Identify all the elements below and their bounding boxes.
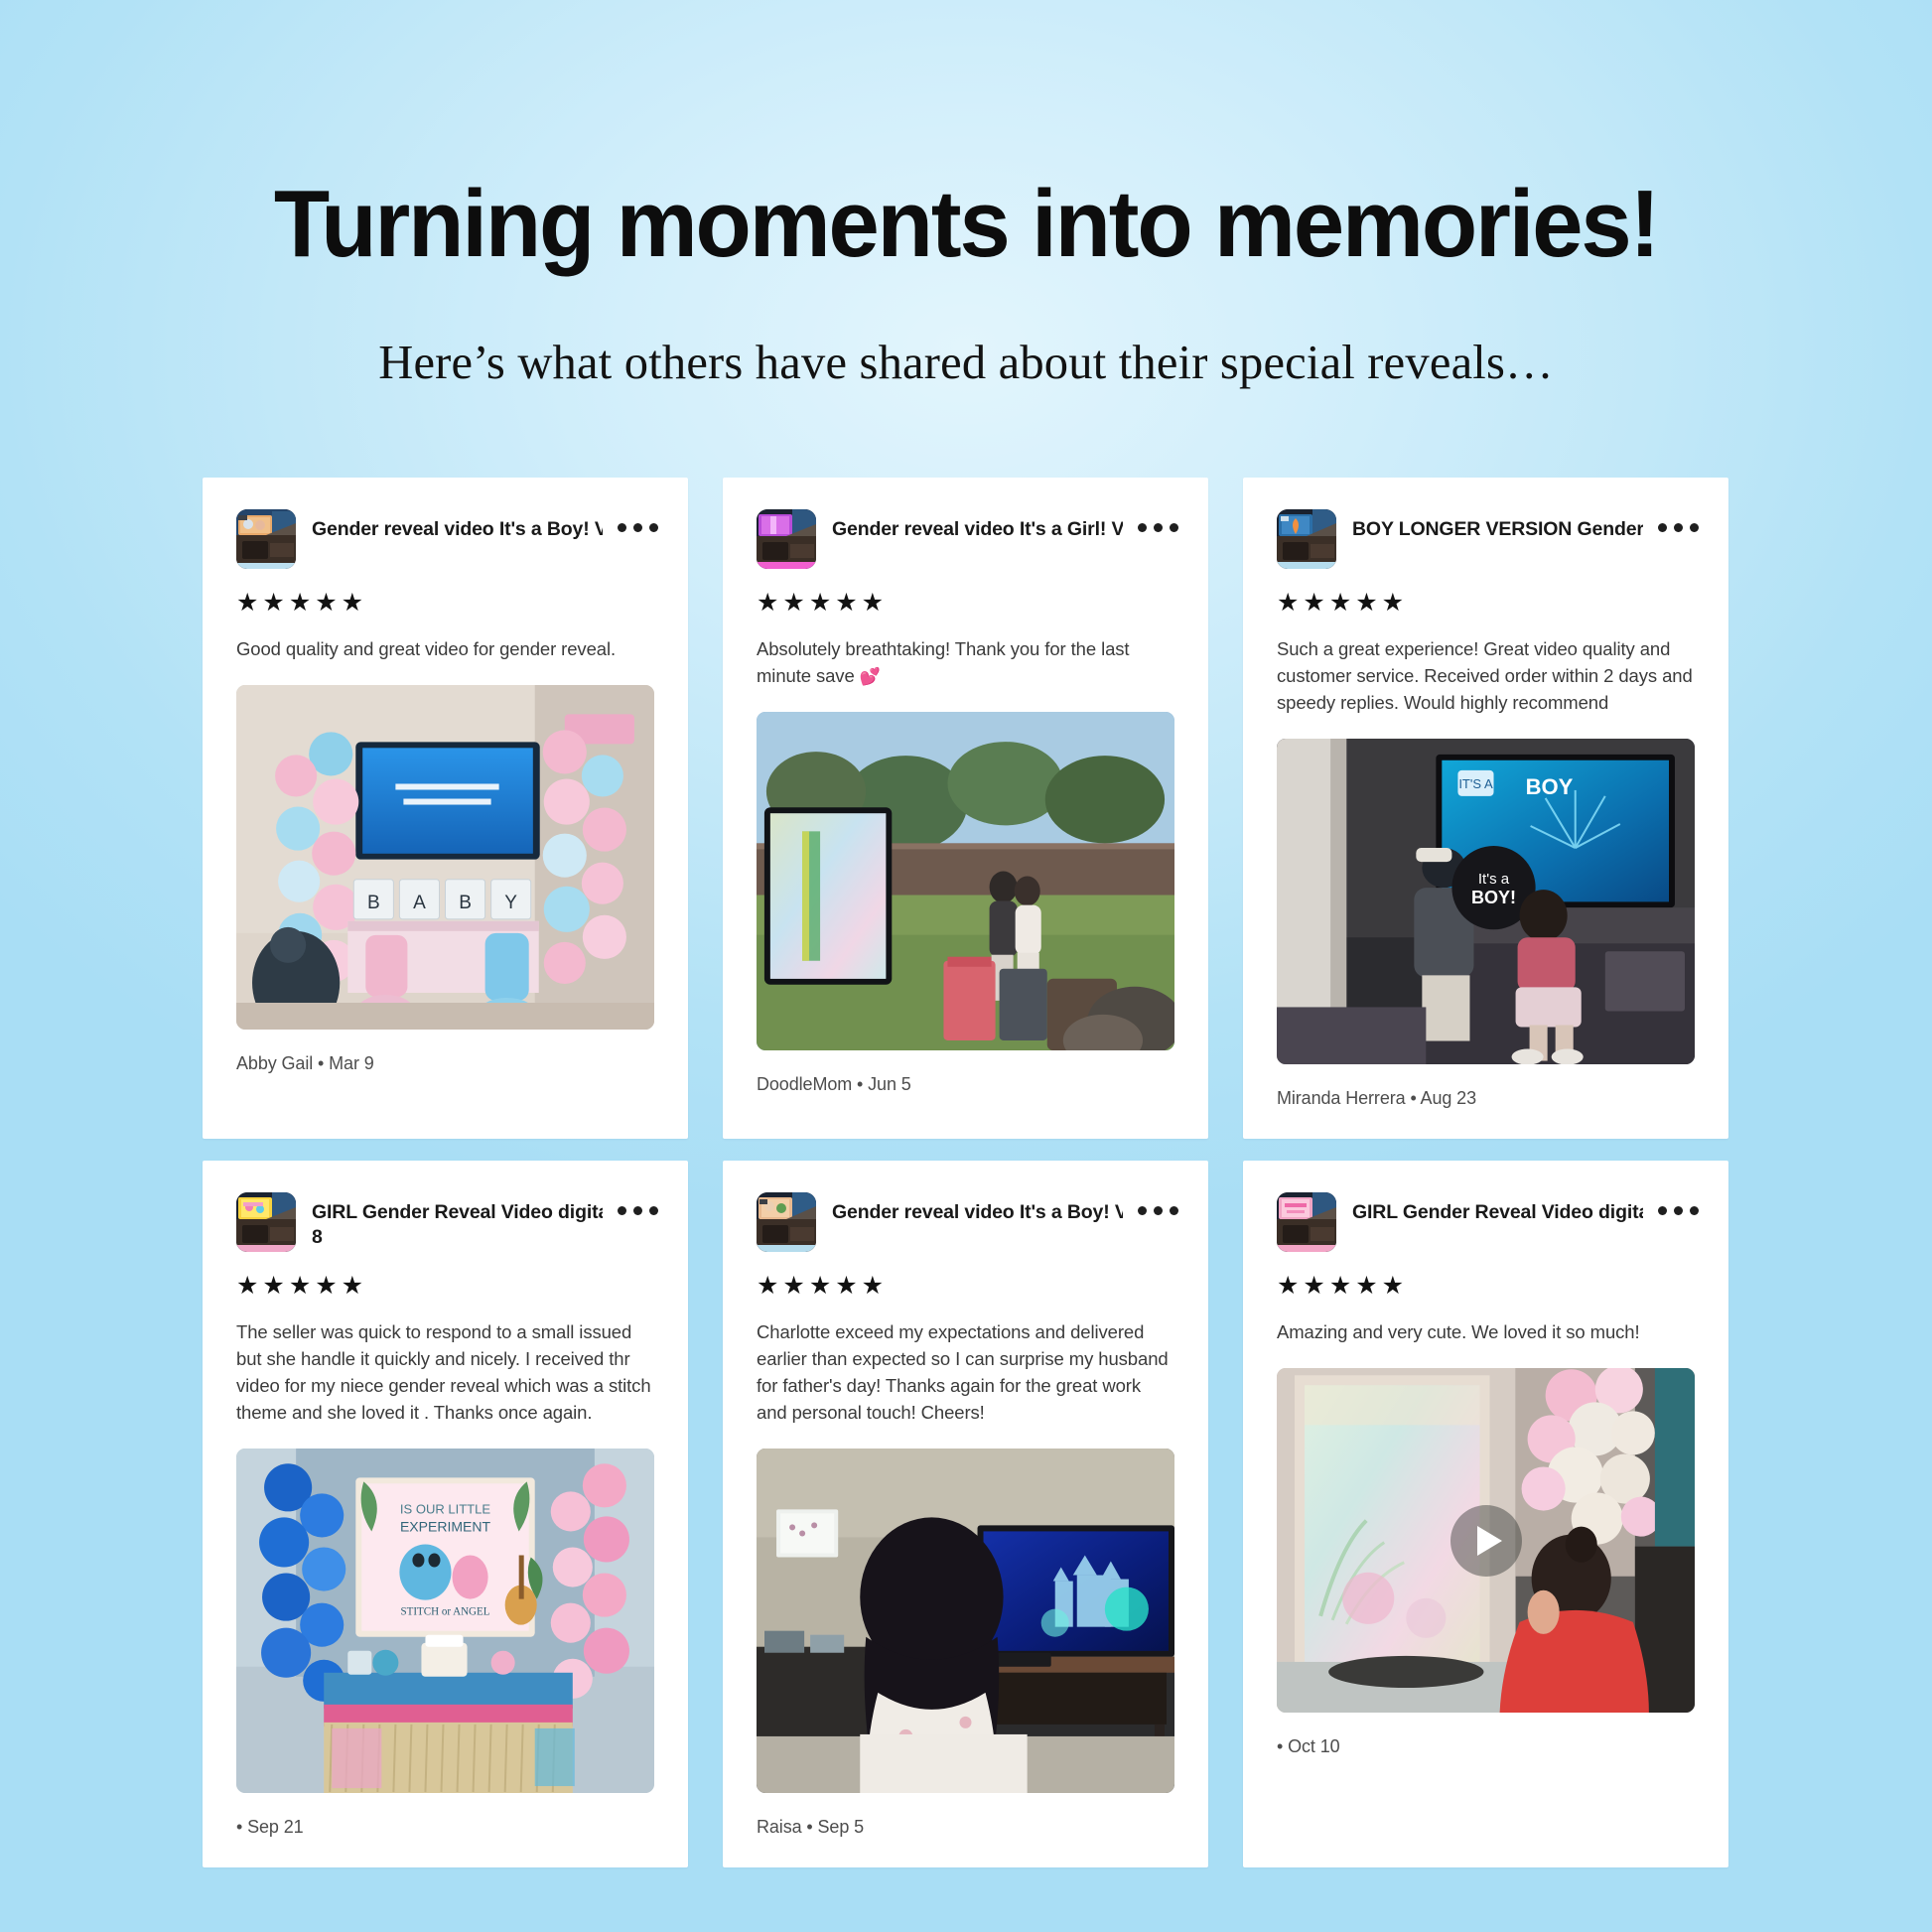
reviews-grid: Gender reveal video It's a Boy! Vide... …	[203, 478, 1729, 1867]
svg-text:IS OUR LITTLE: IS OUR LITTLE	[400, 1501, 490, 1516]
svg-text:IT'S A: IT'S A	[1458, 776, 1493, 791]
star-rating: ★★★★★	[1277, 591, 1695, 616]
star-rating: ★★★★★	[1277, 1274, 1695, 1299]
listing-title[interactable]: Gender reveal video It's a Boy! Vide...	[832, 1200, 1123, 1225]
review-text: Amazing and very cute. We loved it so mu…	[1277, 1318, 1695, 1346]
review-card-header: BOY LONGER VERSION Gender ...	[1277, 509, 1695, 569]
review-card[interactable]: Gender reveal video It's a Boy! Vide... …	[723, 1161, 1208, 1867]
review-text: Good quality and great video for gender …	[236, 635, 654, 663]
three-dots-icon[interactable]	[618, 1206, 658, 1215]
review-card[interactable]: BOY LONGER VERSION Gender ... ★★★★★ Such…	[1243, 478, 1728, 1139]
review-text: Charlotte exceed my expectations and del…	[757, 1318, 1174, 1427]
review-card[interactable]: Gender reveal video It's a Boy! Vide... …	[203, 478, 688, 1139]
listing-thumbnail[interactable]	[236, 1192, 296, 1252]
review-byline: Abby Gail • Mar 9	[236, 1053, 654, 1074]
review-card-header: Gender reveal video It's a Boy! Vide...	[236, 509, 654, 569]
listing-thumbnail[interactable]	[757, 509, 816, 569]
page-header: Turning moments into memories! Here’s wh…	[0, 0, 1932, 390]
listing-title[interactable]: GIRL Gender Reveal Video digital ...	[312, 1200, 603, 1225]
review-text-body: Absolutely breathtaking! Thank you for t…	[757, 638, 1129, 686]
review-text-body: Good quality and great video for gender …	[236, 638, 616, 659]
review-byline: • Sep 21	[236, 1817, 654, 1838]
review-photo[interactable]	[757, 712, 1174, 1050]
listing-title[interactable]: Gender reveal video It's a Girl! Vide...	[832, 517, 1123, 542]
listing-thumbnail[interactable]	[757, 1192, 816, 1252]
listing-thumbnail[interactable]	[236, 509, 296, 569]
review-photo[interactable]	[757, 1449, 1174, 1793]
review-photo[interactable]: IS OUR LITTLE EXPERIMENT STITCH or ANGEL	[236, 1449, 654, 1793]
review-card-header: GIRL Gender Reveal Video digital ...	[1277, 1192, 1695, 1252]
three-dots-icon[interactable]	[1138, 523, 1178, 532]
review-text-body: Charlotte exceed my expectations and del…	[757, 1321, 1169, 1423]
svg-text:B: B	[459, 893, 472, 913]
star-rating: ★★★★★	[236, 1274, 654, 1299]
review-card[interactable]: GIRL Gender Reveal Video digital ... ★★★…	[1243, 1161, 1728, 1867]
listing-title-line2: 8	[312, 1225, 603, 1250]
review-text-body: Amazing and very cute. We loved it so mu…	[1277, 1321, 1640, 1342]
review-photo[interactable]: IT'S A BOY It's a BOY!	[1277, 739, 1695, 1064]
listing-thumbnail[interactable]	[1277, 509, 1336, 569]
svg-text:It's a: It's a	[1478, 871, 1510, 888]
review-card[interactable]: Gender reveal video It's a Girl! Vide...…	[723, 478, 1208, 1139]
review-byline: Miranda Herrera • Aug 23	[1277, 1088, 1695, 1109]
star-rating: ★★★★★	[757, 1274, 1174, 1299]
play-icon[interactable]	[1450, 1505, 1522, 1577]
listing-thumbnail[interactable]	[1277, 1192, 1336, 1252]
review-text: Absolutely breathtaking! Thank you for t…	[757, 635, 1174, 690]
svg-text:BOY!: BOY!	[1471, 888, 1516, 907]
listing-title[interactable]: GIRL Gender Reveal Video digital ...	[1352, 1200, 1643, 1225]
review-text: Such a great experience! Great video qua…	[1277, 635, 1695, 717]
review-text-body: The seller was quick to respond to a sma…	[236, 1321, 651, 1423]
svg-text:BOY: BOY	[1526, 774, 1574, 799]
page-subtitle: Here’s what others have shared about the…	[10, 334, 1923, 390]
review-card-header: GIRL Gender Reveal Video digital ... 8	[236, 1192, 654, 1252]
review-text: The seller was quick to respond to a sma…	[236, 1318, 654, 1427]
review-byline: • Oct 10	[1277, 1736, 1695, 1757]
star-rating: ★★★★★	[757, 591, 1174, 616]
three-dots-icon[interactable]	[618, 523, 658, 532]
three-dots-icon[interactable]	[1658, 523, 1699, 532]
review-card-header: Gender reveal video It's a Girl! Vide...	[757, 509, 1174, 569]
review-card-header: Gender reveal video It's a Boy! Vide...	[757, 1192, 1174, 1252]
review-photo[interactable]: B A B Y	[236, 685, 654, 1030]
heart-emoji: 💕	[860, 667, 881, 686]
review-byline: DoodleMom • Jun 5	[757, 1074, 1174, 1095]
star-rating: ★★★★★	[236, 591, 654, 616]
listing-title[interactable]: BOY LONGER VERSION Gender ...	[1352, 517, 1643, 542]
svg-text:B: B	[367, 893, 380, 913]
svg-text:A: A	[413, 893, 426, 913]
review-text-body: Such a great experience! Great video qua…	[1277, 638, 1693, 713]
svg-text:EXPERIMENT: EXPERIMENT	[400, 1518, 491, 1534]
three-dots-icon[interactable]	[1138, 1206, 1178, 1215]
listing-title[interactable]: Gender reveal video It's a Boy! Vide...	[312, 517, 603, 542]
svg-text:STITCH or ANGEL: STITCH or ANGEL	[401, 1606, 490, 1618]
svg-text:Y: Y	[504, 893, 517, 913]
three-dots-icon[interactable]	[1658, 1206, 1699, 1215]
review-card[interactable]: GIRL Gender Reveal Video digital ... 8 ★…	[203, 1161, 688, 1867]
review-photo[interactable]	[1277, 1368, 1695, 1713]
page-title: Turning moments into memories!	[39, 177, 1893, 272]
review-byline: Raisa • Sep 5	[757, 1817, 1174, 1838]
